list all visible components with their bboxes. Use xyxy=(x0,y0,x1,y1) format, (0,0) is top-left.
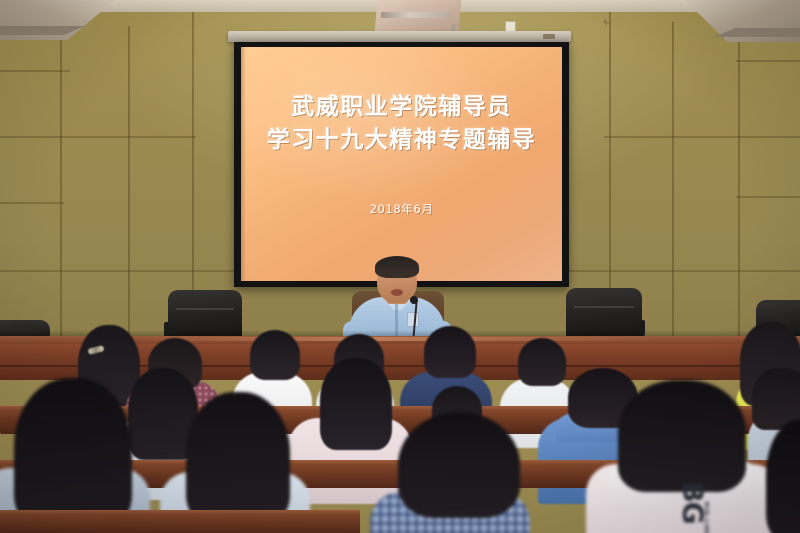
projector-lens-plate xyxy=(381,12,451,18)
attendee-hair xyxy=(14,378,132,528)
speaker-hair xyxy=(375,256,419,278)
wall-seam-horizontal xyxy=(736,60,800,62)
chair-seam xyxy=(574,306,634,308)
lecture-hall-photo: 武威职业学院辅导员 学习十九大精神专题辅导 2018年6月 xyxy=(0,0,800,533)
attendee-hair xyxy=(618,380,746,492)
wall-seam-horizontal xyxy=(736,196,800,198)
screen-left-shading xyxy=(241,47,246,281)
speaker-eyebrow-right xyxy=(401,271,410,273)
wall-seam-horizontal xyxy=(0,136,196,138)
wall-seam-horizontal xyxy=(0,270,196,272)
slide-date: 2018年6月 xyxy=(370,201,434,217)
wall-seam-vertical xyxy=(60,38,62,340)
wall-seam-vertical xyxy=(672,22,674,340)
speaker-eyebrow-left xyxy=(384,271,393,273)
wall-seam-vertical xyxy=(738,36,740,340)
wall-seam-vertical xyxy=(128,26,130,340)
projection-screen-case-endcap xyxy=(543,34,555,39)
wall-seam-horizontal xyxy=(556,270,800,272)
wall-seam-horizontal xyxy=(604,136,800,138)
slide-content: 武威职业学院辅导员 学习十九大精神专题辅导 2018年6月 xyxy=(241,47,562,281)
audience-desk-row-front xyxy=(0,512,360,533)
projection-screen-surface: 武威职业学院辅导员 学习十九大精神专题辅导 2018年6月 xyxy=(241,47,562,281)
attendee-hair xyxy=(424,326,476,378)
speaker-eye-right xyxy=(402,275,409,278)
wall-seam-horizontal xyxy=(0,70,70,72)
dais-highlight xyxy=(140,337,660,341)
attendee-hair xyxy=(518,338,566,386)
speaker-eye-left xyxy=(385,275,392,278)
speaker-mouth xyxy=(391,289,403,296)
microphone-head xyxy=(410,296,418,304)
projection-screen-case xyxy=(228,31,571,42)
attendee-hair xyxy=(250,330,300,380)
attendee-hair xyxy=(398,412,520,518)
attendee-hair xyxy=(320,358,392,450)
chair-seam xyxy=(176,308,234,310)
audience-desk-top xyxy=(0,510,360,515)
hoodie-graphic-subtext: MID-LINER xyxy=(703,501,710,533)
slide-title-line-1: 武威职业学院辅导员 xyxy=(291,92,512,123)
attendee-hair xyxy=(186,392,290,524)
slide-title-line-2: 学习十九大精神专题辅导 xyxy=(267,125,537,156)
wall-seam-horizontal xyxy=(0,202,64,204)
